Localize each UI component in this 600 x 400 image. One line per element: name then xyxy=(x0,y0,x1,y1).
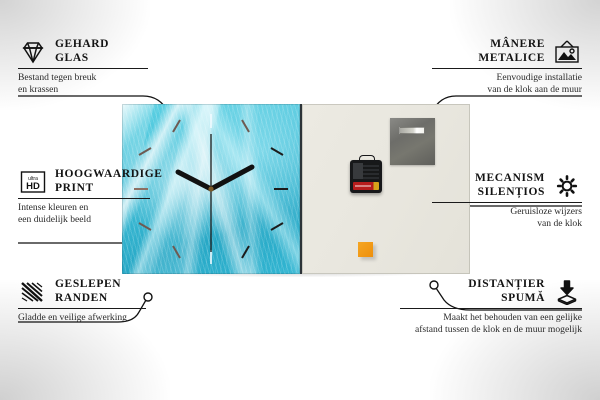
feature-title-line1: DISTANȚIER xyxy=(468,278,545,292)
feature-header: MÂNERE METALICE xyxy=(432,38,582,65)
feature-title-line2: SILENȚIOS xyxy=(475,186,545,200)
feature-rule xyxy=(18,308,146,309)
feature-title-line2: PRINT xyxy=(55,182,163,196)
ultra-hd-icon: ultra HD xyxy=(18,169,48,195)
feature-description: Eenvoudige installatie van de klok aan d… xyxy=(432,72,582,95)
feature-mecanism-silentios[interactable]: MECANISM SILENȚIOS Geruisloze wijzers va… xyxy=(432,172,582,229)
feature-rule xyxy=(400,308,582,309)
diagonal-stripes-icon xyxy=(18,279,48,305)
feature-header: GESLEPEN RANDEN xyxy=(18,278,164,305)
svg-text:HD: HD xyxy=(26,181,40,192)
infographic-canvas: GEHARD GLAS Bestand tegen breuk en krass… xyxy=(0,0,600,400)
feature-rule xyxy=(432,202,582,203)
feature-rule xyxy=(18,68,148,69)
feature-geslepen-randen[interactable]: GESLEPEN RANDEN Gladde en veilige afwerk… xyxy=(18,278,164,324)
feature-title-line2: RANDEN xyxy=(55,292,121,306)
movement-hook xyxy=(359,155,375,163)
feature-title-line2: SPUMĂ xyxy=(468,292,545,306)
feature-hoogwaardige-print[interactable]: ultra HD HOOGWAARDIGE PRINT Intense kleu… xyxy=(18,168,170,225)
feature-description: Bestand tegen breuk en krassen xyxy=(18,72,168,95)
spacer-arrow-icon xyxy=(552,279,582,305)
feature-gehard-glas[interactable]: GEHARD GLAS Bestand tegen breuk en krass… xyxy=(18,38,168,95)
feature-rule xyxy=(18,198,150,199)
diamond-icon xyxy=(18,39,48,65)
product-image xyxy=(122,104,470,274)
feature-title-line2: METALICE xyxy=(478,52,545,66)
gear-icon xyxy=(552,173,582,199)
feature-title-line1: HOOGWAARDIGE xyxy=(55,168,163,182)
foam-spacer-part xyxy=(358,242,373,257)
feature-manere-metalice[interactable]: MÂNERE METALICE Eenvoudige installatie v… xyxy=(432,38,582,95)
clock-movement-part xyxy=(350,160,382,193)
feature-title-line1: MÂNERE xyxy=(478,38,545,52)
feature-description: Gladde en veilige afwerking xyxy=(18,312,164,324)
feature-rule xyxy=(432,68,582,69)
feature-description: Intense kleuren en een duidelijk beeld xyxy=(18,202,170,225)
battery-part xyxy=(353,182,379,190)
feature-distantier-spuma[interactable]: DISTANȚIER SPUMĂ Maakt het behouden van … xyxy=(400,278,582,335)
feature-title-line1: GEHARD xyxy=(55,38,109,52)
feature-title-line1: GESLEPEN xyxy=(55,278,121,292)
feature-description: Maakt het behouden van een gelijke afsta… xyxy=(400,312,582,335)
hanger-slot xyxy=(399,127,425,134)
movement-housing xyxy=(353,163,379,179)
feature-header: MECANISM SILENȚIOS xyxy=(432,172,582,199)
hanger-plate-part xyxy=(390,118,435,165)
feature-header: DISTANȚIER SPUMĂ xyxy=(400,278,582,305)
feature-title-line1: MECANISM xyxy=(475,172,545,186)
feature-description: Geruisloze wijzers van de klok xyxy=(432,206,582,229)
feature-title-line2: GLAS xyxy=(55,52,109,66)
feature-header: ultra HD HOOGWAARDIGE PRINT xyxy=(18,168,170,195)
feature-header: GEHARD GLAS xyxy=(18,38,168,65)
hanging-frame-icon xyxy=(552,39,582,65)
